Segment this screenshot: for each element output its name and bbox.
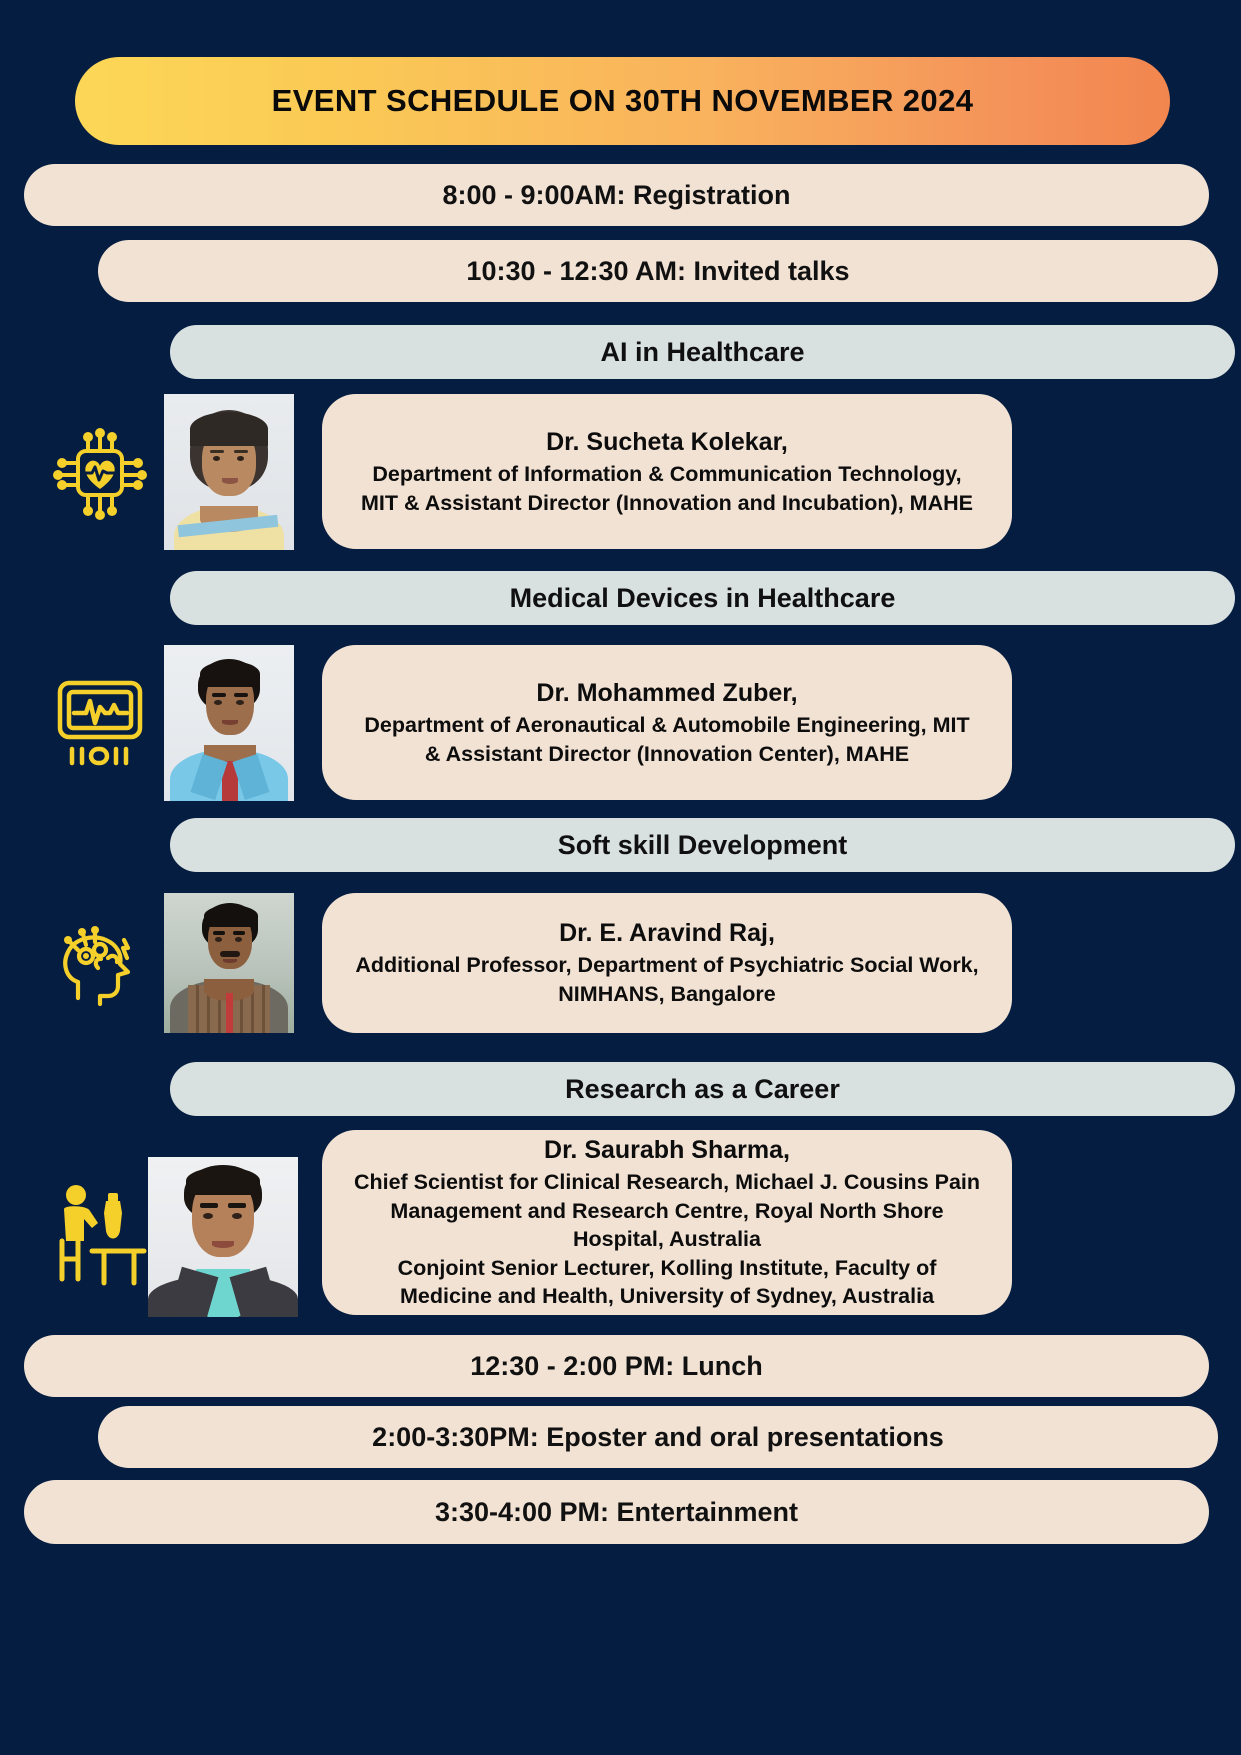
speaker-affiliation-line: NIMHANS, Bangalore: [558, 980, 775, 1009]
head-idea-brain-icon: [45, 908, 155, 1020]
entertainment-label: 3:30-4:00 PM: Entertainment: [435, 1497, 798, 1528]
researcher-microscope-icon: [45, 1172, 155, 1297]
speaker-card-aravind-raj: Dr. E. Aravind Raj, Additional Professor…: [322, 893, 1012, 1033]
registration-label: 8:00 - 9:00AM: Registration: [442, 180, 790, 211]
speaker-name: Dr. E. Aravind Raj,: [559, 917, 775, 949]
speaker-name: Dr. Mohammed Zuber,: [536, 677, 797, 709]
speaker-affiliation-line: Chief Scientist for Clinical Research, M…: [354, 1168, 980, 1197]
schedule-item-entertainment: 3:30-4:00 PM: Entertainment: [24, 1480, 1209, 1544]
speaker-affiliation-line: Department of Information & Communicatio…: [372, 460, 961, 489]
speaker-name: Dr. Saurabh Sharma,: [544, 1134, 790, 1166]
speaker-photo-aravind-raj: [164, 893, 294, 1033]
speaker-card-sucheta-kolekar: Dr. Sucheta Kolekar, Department of Infor…: [322, 394, 1012, 549]
invited-talks-label: 10:30 - 12:30 AM: Invited talks: [466, 256, 849, 287]
speaker-name: Dr. Sucheta Kolekar,: [546, 426, 788, 458]
speaker-photo-sucheta-kolekar: [164, 394, 294, 550]
session-title-label: Medical Devices in Healthcare: [510, 583, 896, 614]
speaker-card-mohammed-zuber: Dr. Mohammed Zuber, Department of Aerona…: [322, 645, 1012, 800]
speaker-photo-saurabh-sharma: [148, 1157, 298, 1317]
speaker-card-saurabh-sharma: Dr. Saurabh Sharma, Chief Scientist for …: [322, 1130, 1012, 1315]
schedule-item-lunch: 12:30 - 2:00 PM: Lunch: [24, 1335, 1209, 1397]
schedule-item-invited-talks: 10:30 - 12:30 AM: Invited talks: [98, 240, 1218, 302]
session-title-ai-in-healthcare: AI in Healthcare: [170, 325, 1235, 379]
eposter-label: 2:00-3:30PM: Eposter and oral presentati…: [372, 1422, 944, 1453]
lunch-label: 12:30 - 2:00 PM: Lunch: [470, 1351, 763, 1382]
speaker-affiliation-line: MIT & Assistant Director (Innovation and…: [361, 489, 973, 518]
session-title-research-as-a-career: Research as a Career: [170, 1062, 1235, 1116]
speaker-photo-mohammed-zuber: [164, 645, 294, 801]
page-title: EVENT SCHEDULE ON 30TH NOVEMBER 2024: [272, 83, 974, 119]
speaker-affiliation-line: Medicine and Health, University of Sydne…: [400, 1282, 934, 1311]
speaker-affiliation-line: Conjoint Senior Lecturer, Kolling Instit…: [398, 1254, 937, 1283]
session-title-label: Soft skill Development: [558, 830, 848, 861]
schedule-item-registration: 8:00 - 9:00AM: Registration: [24, 164, 1209, 226]
speaker-affiliation-line: Hospital, Australia: [573, 1225, 761, 1254]
speaker-affiliation-line: & Assistant Director (Innovation Center)…: [425, 740, 909, 769]
header-banner: EVENT SCHEDULE ON 30TH NOVEMBER 2024: [75, 57, 1170, 145]
ecg-monitor-icon: [45, 665, 155, 777]
event-schedule-poster: EVENT SCHEDULE ON 30TH NOVEMBER 2024 8:0…: [0, 0, 1241, 1755]
session-title-medical-devices-in-healthcare: Medical Devices in Healthcare: [170, 571, 1235, 625]
schedule-item-eposter: 2:00-3:30PM: Eposter and oral presentati…: [98, 1406, 1218, 1468]
speaker-affiliation-line: Management and Research Centre, Royal No…: [390, 1197, 943, 1226]
session-title-label: Research as a Career: [565, 1074, 840, 1105]
speaker-affiliation-line: Department of Aeronautical & Automobile …: [364, 711, 969, 740]
ai-chip-heart-icon: [45, 418, 155, 528]
session-title-label: AI in Healthcare: [600, 337, 804, 368]
speaker-affiliation-line: Additional Professor, Department of Psyc…: [355, 951, 978, 980]
session-title-soft-skill-development: Soft skill Development: [170, 818, 1235, 872]
